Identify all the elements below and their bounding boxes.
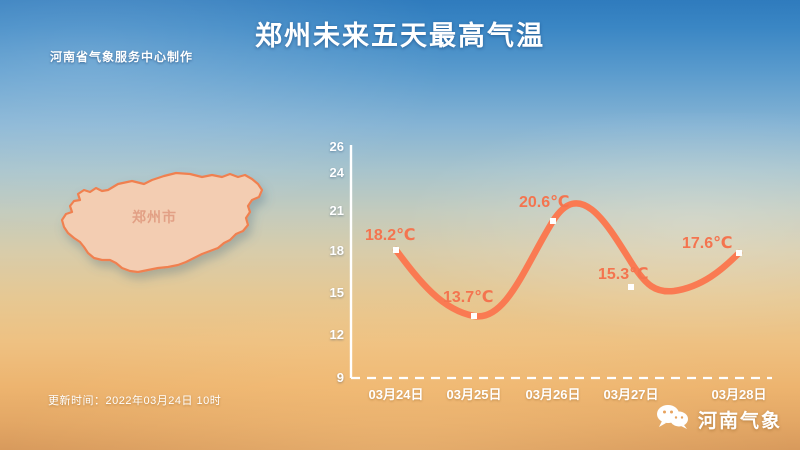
y-tick-label: 9 bbox=[318, 370, 344, 385]
data-point-marker bbox=[550, 218, 556, 224]
data-point-marker bbox=[736, 250, 742, 256]
data-point-marker bbox=[393, 247, 399, 253]
data-point-marker bbox=[471, 313, 477, 319]
x-tick-label: 03月27日 bbox=[591, 384, 671, 403]
map-region-label: 郑州市 bbox=[132, 207, 177, 227]
data-point-marker bbox=[628, 284, 634, 290]
y-tick-label: 18 bbox=[318, 243, 344, 258]
y-tick-label: 12 bbox=[318, 327, 344, 342]
data-value-label: 15.3℃ bbox=[598, 264, 649, 284]
data-value-label: 13.7℃ bbox=[443, 287, 494, 307]
producer-credit: 河南省气象服务中心制作 bbox=[50, 48, 193, 65]
y-tick-label: 24 bbox=[318, 165, 344, 180]
wechat-icon bbox=[656, 404, 690, 435]
chart-svg bbox=[330, 130, 780, 400]
data-value-label: 17.6℃ bbox=[682, 233, 733, 253]
y-tick-label: 21 bbox=[318, 203, 344, 218]
y-tick-label: 26 bbox=[318, 139, 344, 154]
watermark: 河南气象 bbox=[656, 404, 782, 435]
weather-infographic: 郑州未来五天最高气温 河南省气象服务中心制作 郑州市 bbox=[0, 0, 800, 450]
x-tick-label: 03月26日 bbox=[513, 384, 593, 403]
y-tick-label: 15 bbox=[318, 285, 344, 300]
data-value-label: 18.2℃ bbox=[365, 225, 416, 245]
x-tick-label: 03月28日 bbox=[699, 384, 779, 403]
x-tick-label: 03月25日 bbox=[434, 384, 514, 403]
temperature-chart: 26 24 21 18 15 12 9 03月24日 03月25日 03月26日… bbox=[330, 130, 780, 400]
data-value-label: 20.6℃ bbox=[519, 192, 570, 212]
update-time: 更新时间：2022年03月24日 10时 bbox=[48, 392, 221, 408]
x-tick-label: 03月24日 bbox=[356, 384, 436, 403]
watermark-label: 河南气象 bbox=[698, 406, 782, 433]
